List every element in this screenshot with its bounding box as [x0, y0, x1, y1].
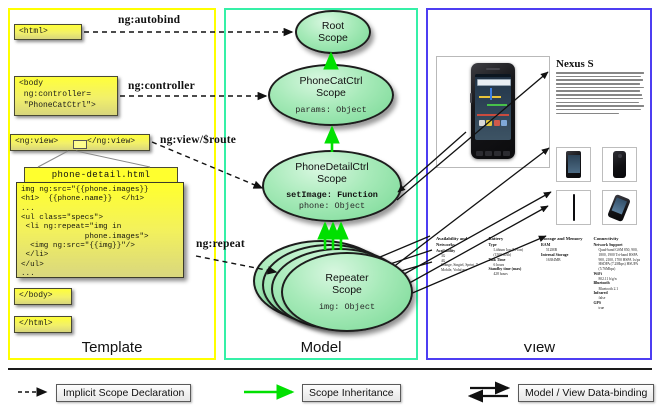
- label-ng-controller: ng:controller: [128, 80, 195, 92]
- tag-body-open: <body ng:controller= "PhoneCatCtrl">: [14, 76, 118, 116]
- scope-phonecatctrl: PhoneCatCtrl Scope params: Object: [268, 64, 394, 126]
- spec-value: 16384MB: [541, 258, 590, 263]
- spec-value: 428 hours: [489, 272, 538, 277]
- spec-value: true: [594, 306, 643, 311]
- spec-column-availability: Availability and Networks Availability 3…: [436, 236, 485, 311]
- scope-root-title-1: Root: [322, 20, 344, 32]
- phone-hero-image: [436, 56, 550, 168]
- spec-column-connectivity: Connectivity Network Support Quad-band G…: [594, 236, 643, 311]
- scope-root-title-2: Scope: [318, 32, 348, 44]
- scope-phonedetailctrl-title-1: PhoneDetailCtrl: [295, 161, 369, 173]
- ngview-placeholder-icon: [73, 140, 87, 149]
- legend-item-implicit-scope-declaration: Implicit Scope Declaration: [56, 384, 191, 402]
- legend-marker-databinding: [470, 388, 508, 396]
- scope-phonecatctrl-title-2: Scope: [316, 87, 346, 99]
- thumbnail-phone-angled[interactable]: [602, 190, 637, 225]
- legend-divider: [8, 368, 652, 370]
- spec-value: Quad-band GSM 850, 900, 1800, 1900 Tri-b…: [594, 248, 643, 271]
- view-rendered-page: Nexus S Availability and Networks Availa…: [432, 14, 646, 344]
- thumbnail-phone-front[interactable]: [556, 147, 591, 182]
- thumbnail-phone-edge[interactable]: [556, 190, 591, 225]
- tag-html-open: <html>: [14, 24, 82, 40]
- tag-ngview: <ng:view> </ng:view>: [10, 134, 150, 151]
- column-template-label: Template: [10, 339, 214, 356]
- spec-header: Battery: [489, 236, 538, 242]
- spec-header: Storage and Memory: [541, 236, 590, 242]
- thumbnail-phone-back[interactable]: [602, 147, 637, 182]
- view-page-description: [556, 72, 644, 116]
- scope-repeater-title-2: Scope: [332, 284, 362, 296]
- scope-repeater-prop-img: img: Object: [319, 302, 375, 312]
- scope-phonedetailctrl-prop-setimage: setImage: Function: [286, 190, 378, 200]
- scope-repeater: Repeater Scope img: Object: [281, 252, 413, 332]
- scope-phonecatctrl-prop-params: params: Object: [295, 105, 366, 115]
- column-model-label: Model: [226, 339, 416, 356]
- scope-root: Root Scope: [295, 10, 371, 54]
- phone-device-illustration: [471, 63, 515, 159]
- spec-column-storage: Storage and Memory RAM 512MB Internal St…: [541, 236, 590, 311]
- view-specs-table: Availability and Networks Availability 3…: [436, 236, 642, 311]
- legend-item-scope-inheritance: Scope Inheritance: [302, 384, 401, 402]
- code-callout-filename: phone-detail.html: [24, 167, 178, 183]
- label-ng-view-route: ng:view/$route: [160, 134, 236, 146]
- scope-phonecatctrl-title-1: PhoneCatCtrl: [299, 75, 362, 87]
- scope-phonedetailctrl-prop-phone: phone: Object: [299, 201, 365, 211]
- legend-item-model-view-data-binding: Model / View Data-binding: [518, 384, 654, 402]
- scope-phonedetailctrl-title-2: Scope: [317, 173, 347, 185]
- tag-html-close: </html>: [14, 316, 72, 333]
- label-ng-autobind: ng:autobind: [118, 14, 180, 26]
- scope-phonedetailctrl: PhoneDetailCtrl Scope setImage: Function…: [262, 150, 402, 222]
- spec-column-battery: Battery Type Lithium Ion (Li-Ion) (1500 …: [489, 236, 538, 311]
- scope-repeater-title-1: Repeater: [325, 272, 368, 284]
- diagram-canvas: Template Model View <html> <body ng:cont…: [0, 0, 660, 420]
- tag-body-close: </body>: [14, 288, 72, 305]
- tag-ngview-open: <ng:view>: [15, 137, 58, 146]
- label-ng-repeat: ng:repeat: [196, 238, 245, 250]
- view-page-title: Nexus S: [556, 58, 594, 70]
- spec-header: Connectivity: [594, 236, 643, 242]
- spec-value: Orange, Singtel, Sprint, T-Mobile, Vodaf…: [436, 263, 485, 272]
- tag-ngview-close: </ng:view>: [87, 137, 135, 146]
- code-callout-source: img ng:src="{{phone.images}} <h1> {{phon…: [16, 182, 184, 278]
- spec-header: Availability and Networks: [436, 236, 485, 247]
